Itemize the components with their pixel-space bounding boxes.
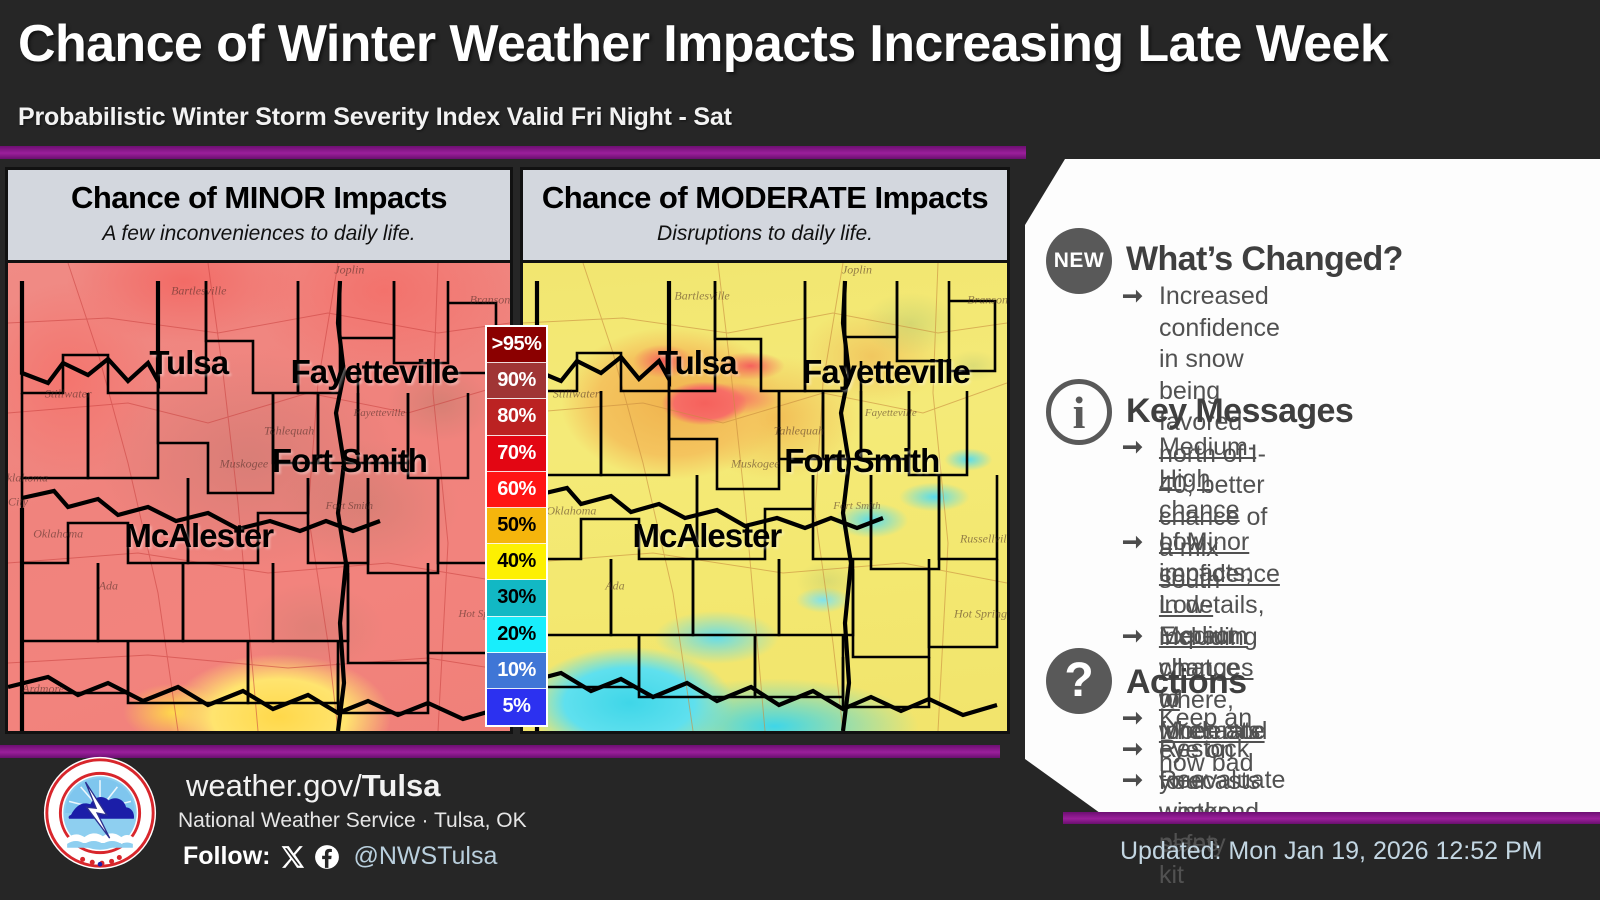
legend-stop: >95% bbox=[487, 327, 546, 363]
page-subtitle: Probabilistic Winter Storm Severity Inde… bbox=[18, 103, 732, 132]
nws-seal-logo: N A T I O N A L W E A T H E R S E R V I … bbox=[42, 755, 158, 871]
legend-label: 40% bbox=[497, 550, 536, 573]
map-title-minor: Chance of MINOR Impacts bbox=[71, 182, 447, 215]
map-header-moderate: Chance of MODERATE Impacts Disruptions t… bbox=[523, 170, 1007, 263]
legend-label: 70% bbox=[497, 442, 536, 465]
facebook-icon[interactable] bbox=[314, 844, 340, 870]
legend-label: 90% bbox=[497, 369, 536, 392]
section-title-whats-changed: What’s Changed? bbox=[1126, 240, 1403, 279]
map-card-moderate[interactable]: Chance of MODERATE Impacts Disruptions t… bbox=[520, 167, 1010, 734]
bullet-emphasis: Medium-High chance bbox=[1159, 433, 1256, 524]
x-twitter-icon[interactable] bbox=[279, 844, 305, 870]
legend-stop: 60% bbox=[487, 472, 546, 508]
new-badge-icon: NEW bbox=[1046, 228, 1112, 294]
legend-stop: 90% bbox=[487, 363, 546, 399]
city-label: Fayetteville bbox=[802, 353, 970, 391]
legend-label: 10% bbox=[497, 659, 536, 682]
probability-legend: >95% 90% 80% 70% 60% 50% 40% 30% 20% 10%… bbox=[485, 325, 548, 727]
legend-label: 30% bbox=[497, 586, 536, 609]
social-handle[interactable]: @NWSTulsa bbox=[353, 842, 497, 871]
city-label: Tulsa bbox=[658, 344, 737, 382]
legend-stop: 50% bbox=[487, 508, 546, 544]
city-label: Fayetteville bbox=[291, 353, 459, 391]
legend-label: 20% bbox=[497, 623, 536, 646]
legend-label: >95% bbox=[492, 333, 542, 356]
info-icon: i bbox=[1046, 379, 1112, 445]
map-header-minor: Chance of MINOR Impacts A few inconvenie… bbox=[8, 170, 510, 263]
info-panel-notch bbox=[1000, 159, 1110, 229]
legend-stop: 30% bbox=[487, 580, 546, 616]
legend-stop: 5% bbox=[487, 689, 546, 725]
footer-url-prefix: weather.gov/ bbox=[186, 768, 362, 803]
section-title-actions: Actions bbox=[1126, 663, 1246, 702]
legend-label: 60% bbox=[497, 478, 536, 501]
legend-label: 80% bbox=[497, 405, 536, 428]
infographic-canvas: Chance of Winter Weather Impacts Increas… bbox=[0, 0, 1600, 900]
footer-url-office: Tulsa bbox=[362, 768, 441, 803]
question-icon: ? bbox=[1046, 648, 1112, 714]
map-body-minor[interactable]: Bartlesville Joplin Branson Stillwater T… bbox=[8, 263, 510, 731]
legend-stop: 10% bbox=[487, 653, 546, 689]
new-badge-label: NEW bbox=[1054, 249, 1105, 273]
city-label: McAlester bbox=[124, 517, 273, 555]
legend-label: 50% bbox=[497, 514, 536, 537]
map-body-moderate[interactable]: Bartlesville Joplin Branson Stillwater T… bbox=[523, 263, 1007, 731]
info-badge-label: i bbox=[1073, 386, 1086, 439]
legend-stop: 40% bbox=[487, 544, 546, 580]
legend-stop: 20% bbox=[487, 617, 546, 653]
accent-bar-bottom-right bbox=[1063, 812, 1600, 824]
bullet-emphasis: Low confidence bbox=[1159, 528, 1280, 588]
updated-timestamp: Updated: Mon Jan 19, 2026 12:52 PM bbox=[1120, 837, 1543, 866]
footer-url[interactable]: weather.gov/Tulsa bbox=[186, 768, 440, 804]
section-title-key-messages: Key Messages bbox=[1126, 392, 1353, 431]
legend-stop: 80% bbox=[487, 399, 546, 435]
county-boundaries-moderate bbox=[523, 263, 1007, 731]
city-label: Fort Smith bbox=[272, 442, 427, 480]
county-boundaries-minor bbox=[8, 263, 510, 731]
city-label: McAlester bbox=[633, 517, 782, 555]
legend-stop: 70% bbox=[487, 436, 546, 472]
map-title-moderate: Chance of MODERATE Impacts bbox=[542, 182, 988, 215]
follow-label: Follow: bbox=[183, 842, 270, 871]
city-label: Fort Smith bbox=[784, 442, 939, 480]
footer-follow-row: Follow: @NWSTulsa bbox=[183, 842, 497, 871]
map-subtitle-moderate: Disruptions to daily life. bbox=[657, 222, 873, 246]
accent-bar-top-left bbox=[0, 146, 1026, 159]
page-title: Chance of Winter Weather Impacts Increas… bbox=[18, 14, 1578, 74]
map-card-minor[interactable]: Chance of MINOR Impacts A few inconvenie… bbox=[5, 167, 513, 734]
legend-label: 5% bbox=[503, 695, 531, 718]
question-badge-label: ? bbox=[1064, 657, 1093, 705]
city-label: Tulsa bbox=[149, 344, 228, 382]
map-subtitle-minor: A few inconveniences to daily life. bbox=[102, 222, 415, 246]
footer-office-name: National Weather Service · Tulsa, OK bbox=[178, 809, 527, 833]
